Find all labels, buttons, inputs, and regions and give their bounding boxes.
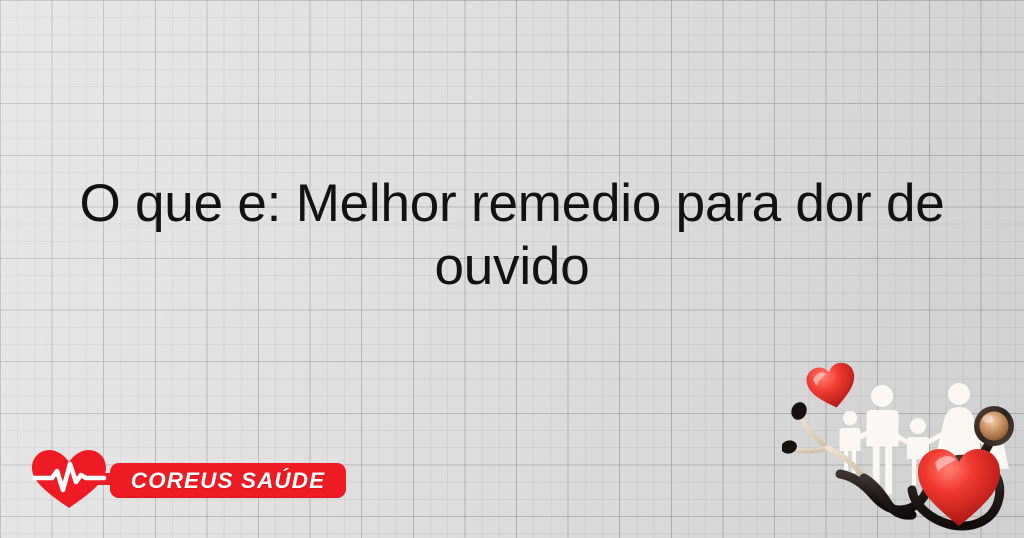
brand-logo: COREUS SAÚDE — [30, 446, 350, 512]
image-canvas: O que e: Melhor remedio para dor de ouvi… — [0, 0, 1024, 538]
brand-name-label: COREUS SAÚDE — [110, 463, 346, 498]
heart-pulse-icon — [30, 448, 108, 510]
health-illustration — [782, 352, 1024, 538]
brand-name-badge: COREUS SAÚDE — [110, 463, 346, 498]
small-red-heart — [804, 360, 860, 412]
page-title: O que e: Melhor remedio para dor de ouvi… — [34, 172, 990, 298]
stethoscope-chestpiece — [974, 406, 1014, 446]
